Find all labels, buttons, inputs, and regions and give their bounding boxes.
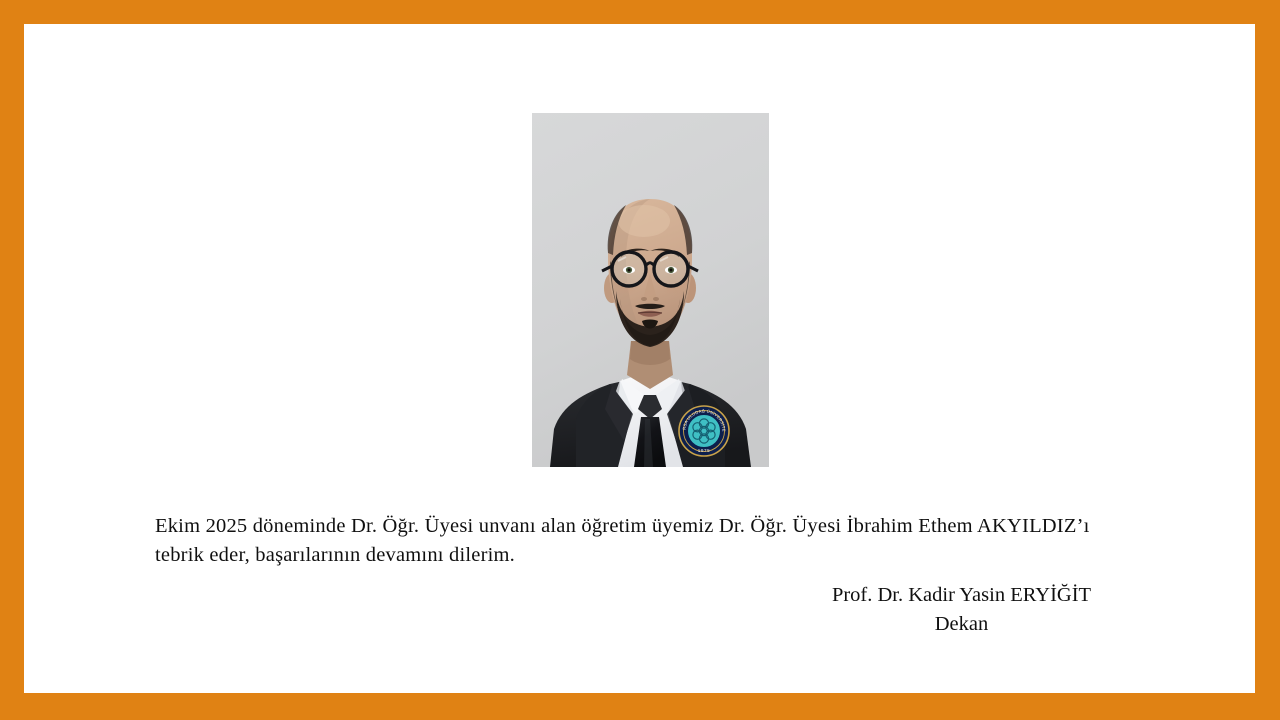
congratulation-message: Ekim 2025 döneminde Dr. Öğr. Üyesi unvan…	[155, 512, 1115, 570]
svg-text:1975: 1975	[698, 448, 711, 453]
slide-content-area: BURSA ULUDAĞ ÜNİVERSİTESİ 1975 Ekim 2025…	[24, 24, 1255, 693]
message-line-1: Ekim 2025 döneminde Dr. Öğr. Üyesi unvan…	[155, 515, 973, 537]
portrait-photo-graphic: BURSA ULUDAĞ ÜNİVERSİTESİ 1975	[532, 113, 769, 467]
signatory-name: Prof. Dr. Kadir Yasin ERYİĞİT	[724, 581, 1199, 610]
slide-orange-border: BURSA ULUDAĞ ÜNİVERSİTESİ 1975 Ekim 2025…	[0, 0, 1280, 720]
signature-block: Prof. Dr. Kadir Yasin ERYİĞİT Dekan	[724, 581, 1274, 639]
signatory-title: Dekan	[724, 610, 1199, 639]
portrait-photo: BURSA ULUDAĞ ÜNİVERSİTESİ 1975	[532, 113, 769, 467]
university-badge: BURSA ULUDAĞ ÜNİVERSİTESİ 1975	[679, 406, 729, 456]
